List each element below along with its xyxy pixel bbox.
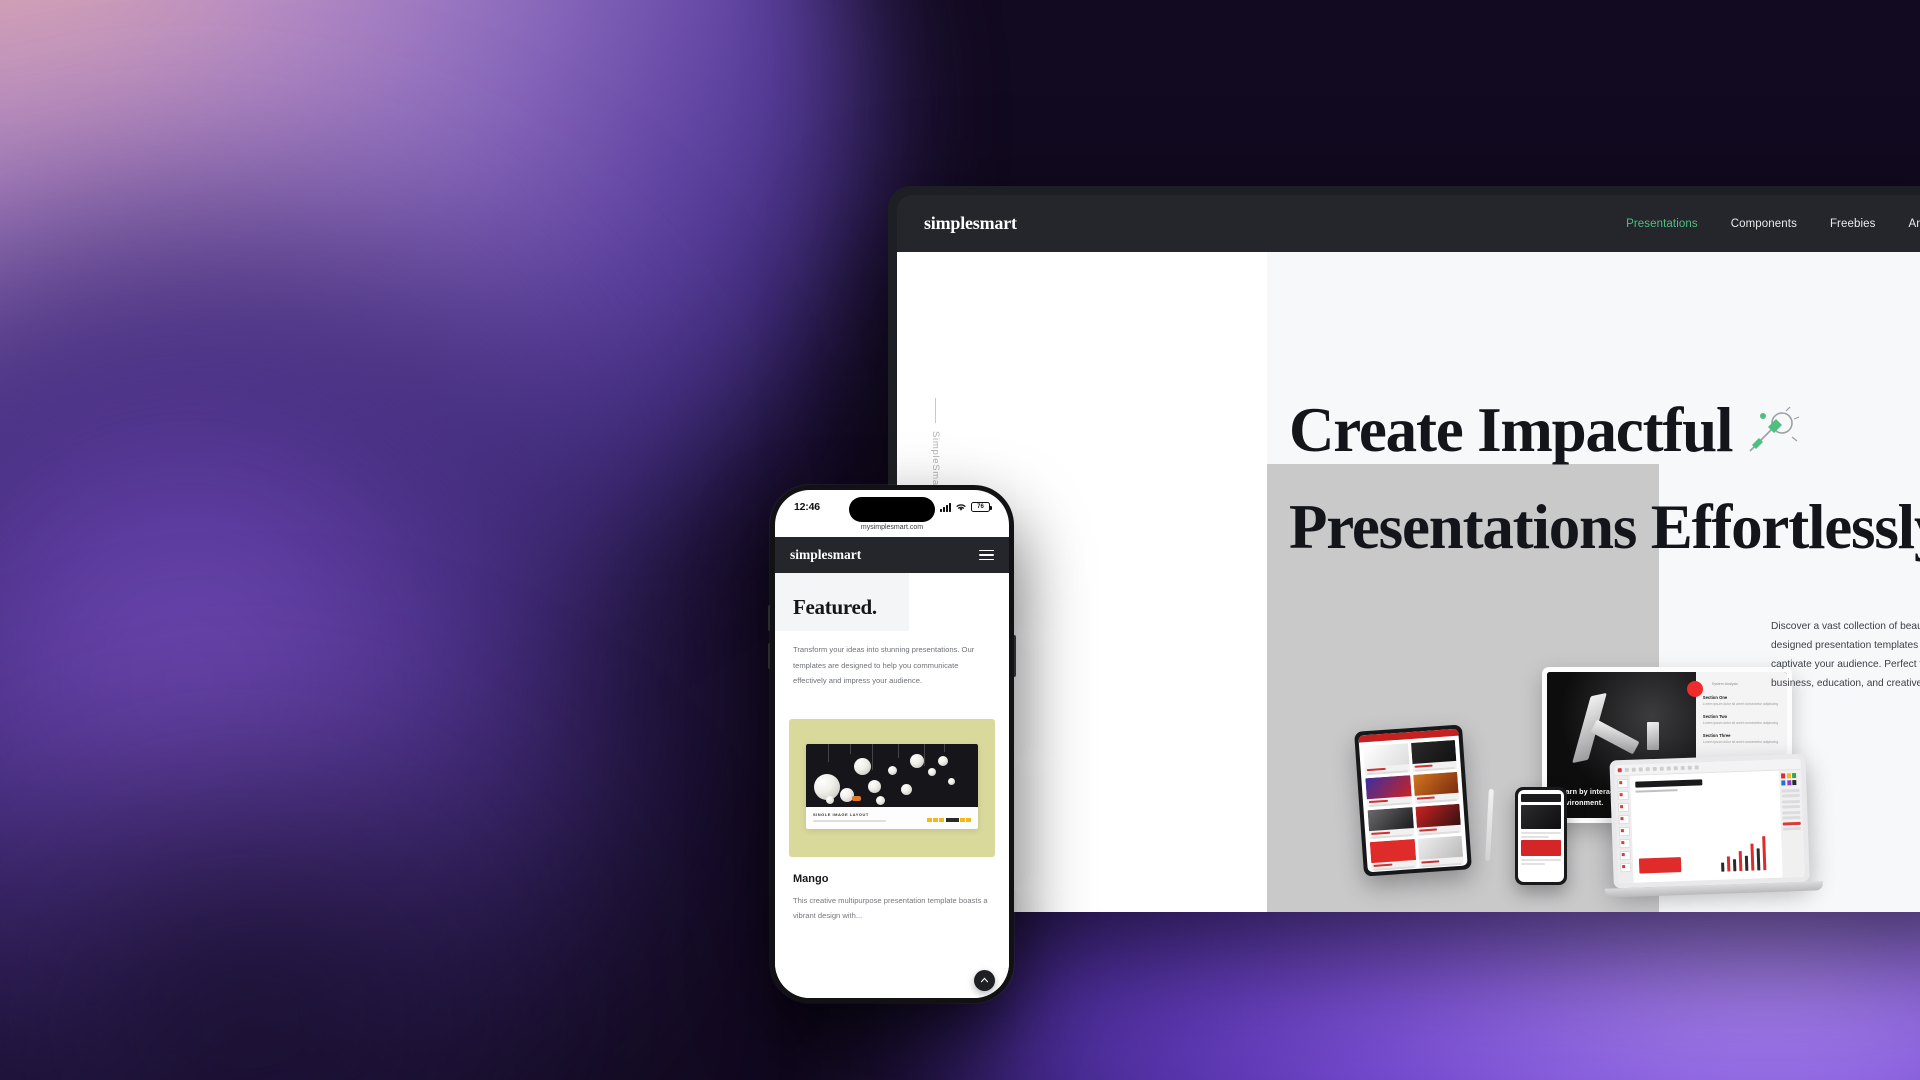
- phone-mockup: 12:46 76 mysimplesmart.com simplesmart: [770, 485, 1014, 1003]
- chart-bar: [1738, 851, 1742, 871]
- wifi-icon: [955, 502, 967, 512]
- laptop-screen: [1615, 759, 1805, 883]
- nav-item-freebies[interactable]: Freebies: [1830, 218, 1876, 230]
- status-clock: 12:46: [794, 501, 820, 513]
- chart-bar: [1721, 862, 1725, 871]
- monitor-section-title: Section Three: [1703, 733, 1780, 738]
- phone-volume-down-button[interactable]: [768, 643, 770, 669]
- slide-bar-chart: [1720, 834, 1767, 872]
- stylus-pencil: [1485, 789, 1494, 861]
- laptop-mockup: [1600, 753, 1823, 911]
- monitor-section-body: Lorem ipsum dolor sit amet consectetur a…: [1703, 740, 1780, 745]
- monitor-section-body: Lorem ipsum dolor sit amet consectetur a…: [1703, 721, 1780, 726]
- scroll-to-top-button[interactable]: [974, 970, 995, 991]
- browser-window: simplesmart Presentations Components Fre…: [888, 186, 1920, 912]
- tablet-card: [1368, 807, 1414, 839]
- tablet-card-grid: [1359, 736, 1468, 873]
- site-logo[interactable]: simplesmart: [924, 213, 1017, 234]
- browser-bezel: simplesmart Presentations Components Fre…: [888, 186, 1920, 912]
- template-title: Mango: [793, 873, 991, 885]
- phone-logo[interactable]: simplesmart: [790, 547, 861, 563]
- slide-canvas: [1630, 771, 1783, 883]
- chart-bar: [1750, 844, 1754, 871]
- signal-icon: [940, 503, 951, 512]
- editor-right-panel: [1779, 770, 1805, 878]
- editor-body: [1615, 770, 1805, 883]
- featured-copy: Transform your ideas into stunning prese…: [775, 620, 1009, 689]
- tablet-frame: [1354, 724, 1472, 876]
- vertical-brand-label: SimpleSmart: [930, 431, 941, 493]
- template-card-subline: [813, 820, 886, 823]
- hero-section: SimpleSmart: [897, 252, 1920, 912]
- slide-title-block: [1635, 779, 1702, 787]
- phone-content: Featured. Transform your ideas into stun…: [775, 573, 1009, 998]
- battery-icon: 76: [971, 502, 990, 512]
- red-dot-accent: [1687, 681, 1703, 697]
- template-card[interactable]: SINGLE IMAGE LAYOUT: [789, 719, 995, 858]
- chart-bar: [1732, 859, 1736, 871]
- tablet-card: [1365, 775, 1411, 807]
- vertical-brand: SimpleSmart: [930, 398, 941, 493]
- color-swatches: [1781, 773, 1799, 785]
- template-card-meta: SINGLE IMAGE LAYOUT: [806, 807, 978, 830]
- tablet-card: [1413, 772, 1459, 804]
- phone-volume-up-button[interactable]: [768, 605, 770, 631]
- monitor-section-title: Section Two: [1703, 714, 1780, 719]
- headline-line-1: Create Impactful: [1289, 395, 1732, 465]
- hero-headline: Create Impactful Presentations Effortles…: [1289, 382, 1920, 576]
- nav-links: Presentations Components Freebies Articl…: [1626, 218, 1920, 230]
- dynamic-island: [849, 497, 935, 522]
- headline-line-2: Presentations Effortlessly.: [1289, 479, 1920, 576]
- monitor-section-body: Lorem ipsum dolor sit amet consectetur a…: [1703, 702, 1780, 707]
- tablet-card: [1370, 839, 1416, 871]
- slide-accent-box: [1639, 857, 1681, 873]
- vertical-brand-rule: [935, 398, 936, 423]
- template-card-preview: SINGLE IMAGE LAYOUT: [806, 744, 978, 830]
- browser-viewport: simplesmart Presentations Components Fre…: [897, 195, 1920, 912]
- featured-heading: Featured.: [775, 573, 1009, 620]
- tablet-card: [1410, 740, 1456, 772]
- chart-bar: [1744, 855, 1748, 871]
- template-card-footer: Mango This creative multipurpose present…: [775, 857, 1009, 923]
- slide-subtitle-block: [1636, 789, 1678, 792]
- tablet-screen: [1358, 729, 1467, 873]
- tablet-card: [1417, 836, 1463, 868]
- template-card-progress: [927, 818, 971, 823]
- small-phone-frame: [1515, 787, 1567, 885]
- template-card-image: [806, 744, 978, 807]
- small-phone-accent-block: [1521, 840, 1561, 856]
- tablet-card: [1363, 743, 1409, 775]
- arrow-up-icon: [980, 976, 989, 985]
- phone-power-button[interactable]: [1014, 635, 1016, 677]
- small-phone-image: [1521, 805, 1561, 829]
- nav-item-presentations[interactable]: Presentations: [1626, 218, 1698, 230]
- small-phone-navbar: [1521, 794, 1561, 802]
- hamburger-icon[interactable]: [979, 550, 994, 561]
- nav-item-components[interactable]: Components: [1731, 218, 1797, 230]
- monitor-slide-eyebrow: System Analysis: [1712, 682, 1780, 686]
- hero-body-copy: Discover a vast collection of beautifull…: [1771, 618, 1920, 694]
- monitor-section-title: Section One: [1703, 695, 1780, 700]
- chart-bar: [1726, 856, 1730, 872]
- battery-level: 76: [977, 504, 984, 510]
- nav-item-articles[interactable]: Articles: [1908, 218, 1920, 230]
- phone-url-bar[interactable]: mysimplesmart.com: [775, 524, 1009, 537]
- tablet-mockup: [1354, 724, 1472, 876]
- small-phone-mockup: [1515, 787, 1567, 885]
- small-phone-screen: [1518, 790, 1564, 882]
- laptop-lid: [1609, 754, 1809, 889]
- chart-bar: [1756, 849, 1760, 871]
- chart-bar: [1762, 836, 1767, 870]
- phone-navbar: simplesmart: [775, 537, 1009, 573]
- status-indicators: 76: [940, 502, 990, 512]
- template-card-label: SINGLE IMAGE LAYOUT: [813, 812, 971, 817]
- site-navbar: simplesmart Presentations Components Fre…: [897, 195, 1920, 252]
- rocket-icon: [1742, 388, 1802, 442]
- hero-right-column: Learn by interacting with an environment…: [1267, 252, 1920, 912]
- phone-screen: 12:46 76 mysimplesmart.com simplesmart: [775, 490, 1009, 998]
- template-description: This creative multipurpose presentation …: [793, 893, 991, 923]
- tablet-card: [1415, 804, 1461, 836]
